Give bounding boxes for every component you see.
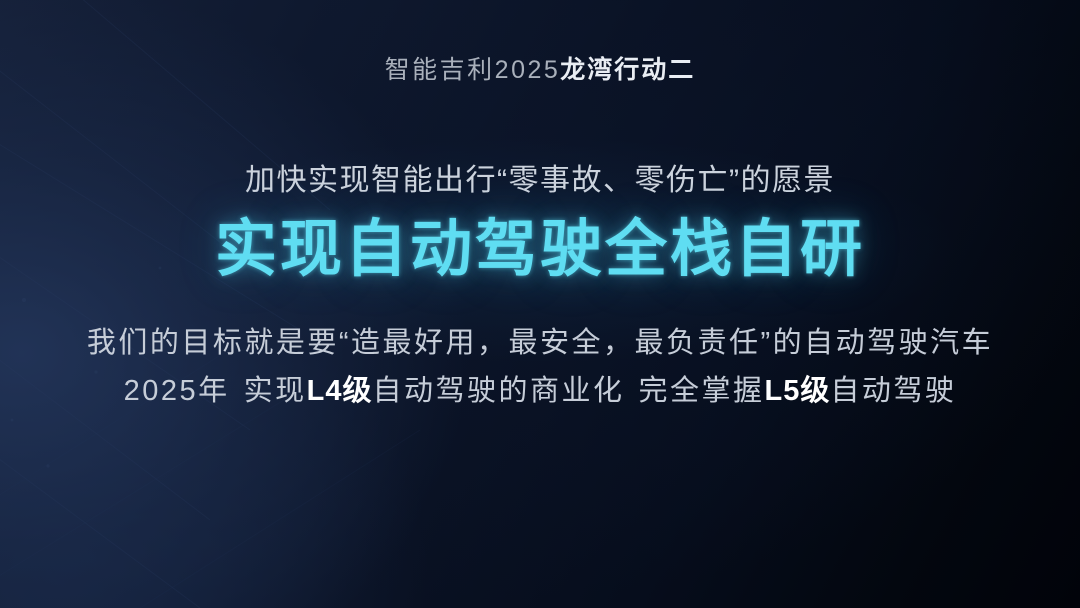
body-line-2: 2025年实现L4级自动驾驶的商业化完全掌握L5级自动驾驶 — [0, 370, 1080, 412]
eyebrow-light-text: 智能吉利2025 — [385, 56, 561, 84]
eyebrow-strong-text: 龙湾行动二 — [560, 56, 695, 84]
body-line-2-verb: 实现 — [244, 375, 307, 407]
body-line-2-year: 2025年 — [124, 375, 230, 407]
slide-eyebrow: 智能吉利2025龙湾行动二 — [0, 52, 1080, 88]
body-line-2-level-l4: L4级 — [307, 375, 373, 407]
slide-content: 智能吉利2025龙湾行动二 加快实现智能出行“零事故、零伤亡”的愿景 实现自动驾… — [0, 0, 1080, 608]
slide-headline: 实现自动驾驶全栈自研 — [0, 211, 1080, 289]
presentation-slide: 智能吉利2025龙湾行动二 加快实现智能出行“零事故、零伤亡”的愿景 实现自动驾… — [0, 0, 1080, 608]
body-line-2-autonomous-driving: 自动驾驶 — [830, 375, 956, 407]
slide-subtitle: 加快实现智能出行“零事故、零伤亡”的愿景 — [0, 160, 1080, 202]
body-line-2-mastery: 完全掌握 — [639, 375, 765, 407]
body-line-1: 我们的目标就是要“造最好用，最安全，最负责任”的自动驾驶汽车 — [0, 322, 1080, 364]
body-line-2-level-l5: L5级 — [765, 375, 831, 407]
body-line-2-commercialization: 自动驾驶的商业化 — [372, 375, 624, 407]
